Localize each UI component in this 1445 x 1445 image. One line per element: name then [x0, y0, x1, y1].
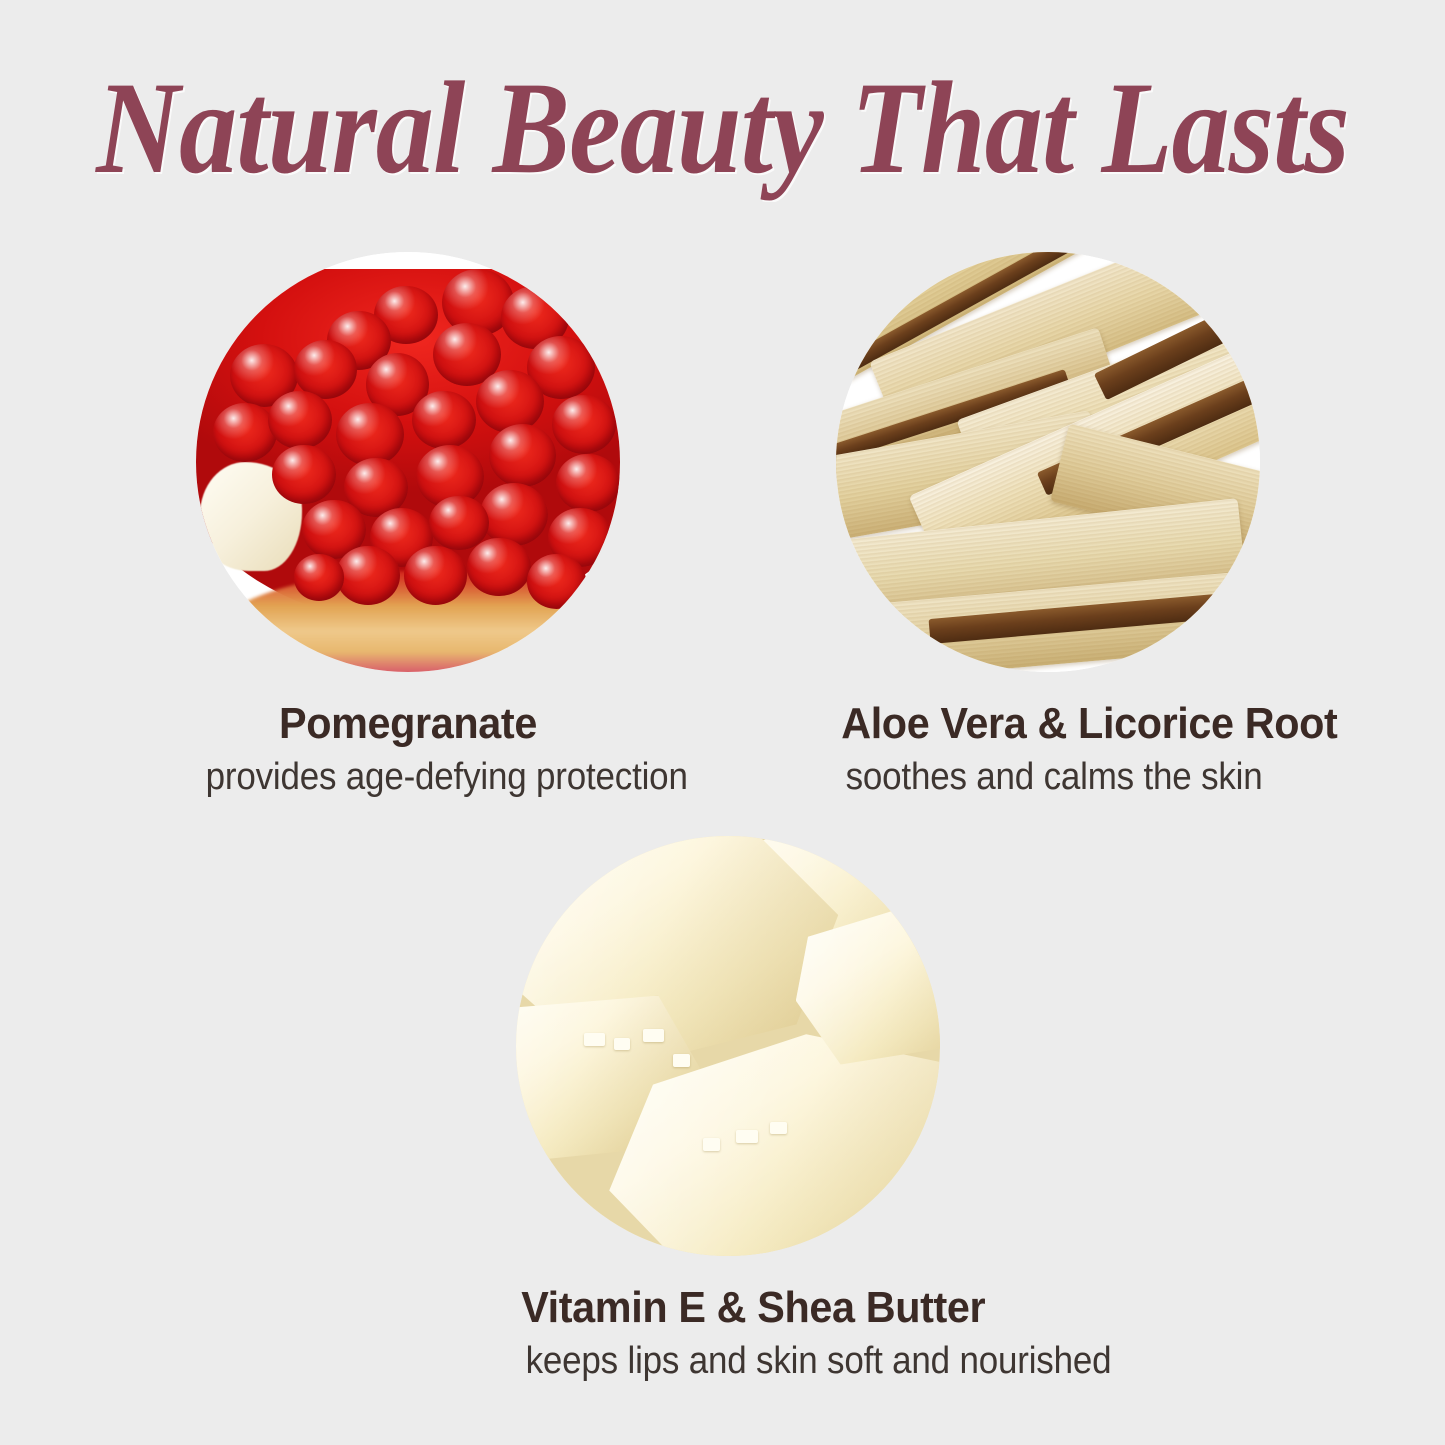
pomegranate-illustration — [196, 252, 620, 672]
ingredient-description-vitamin-e-shea: keeps lips and skin soft and nourished — [526, 1340, 931, 1383]
ingredient-card-vitamin-e-shea: Vitamin E & Shea Butter keeps lips and s… — [508, 836, 948, 1383]
shea-caption: Vitamin E & Shea Butter keeps lips and s… — [508, 1284, 948, 1383]
licorice-caption: Aloe Vera & Licorice Root soothes and ca… — [828, 700, 1268, 799]
page-title: Natural Beauty That Lasts — [87, 62, 1359, 194]
ingredient-card-pomegranate: Pomegranate provides age-defying protect… — [188, 252, 628, 799]
ingredient-name-aloe-licorice: Aloe Vera & Licorice Root — [841, 700, 1255, 748]
shea-photo — [516, 836, 940, 1256]
ingredient-name-vitamin-e-shea: Vitamin E & Shea Butter — [521, 1284, 935, 1332]
ingredient-description-aloe-licorice: soothes and calms the skin — [846, 756, 1251, 799]
licorice-photo — [836, 252, 1260, 672]
shea-butter-illustration — [516, 836, 940, 1256]
licorice-illustration — [836, 252, 1260, 672]
ingredient-name-pomegranate: Pomegranate — [201, 700, 615, 748]
ingredient-card-aloe-licorice: Aloe Vera & Licorice Root soothes and ca… — [828, 252, 1268, 799]
ingredient-description-pomegranate: provides age-defying protection — [206, 756, 611, 799]
pomegranate-caption: Pomegranate provides age-defying protect… — [188, 700, 628, 799]
pomegranate-photo — [196, 252, 620, 672]
ingredient-benefits-infographic: Natural Beauty That Lasts — [0, 0, 1445, 1445]
